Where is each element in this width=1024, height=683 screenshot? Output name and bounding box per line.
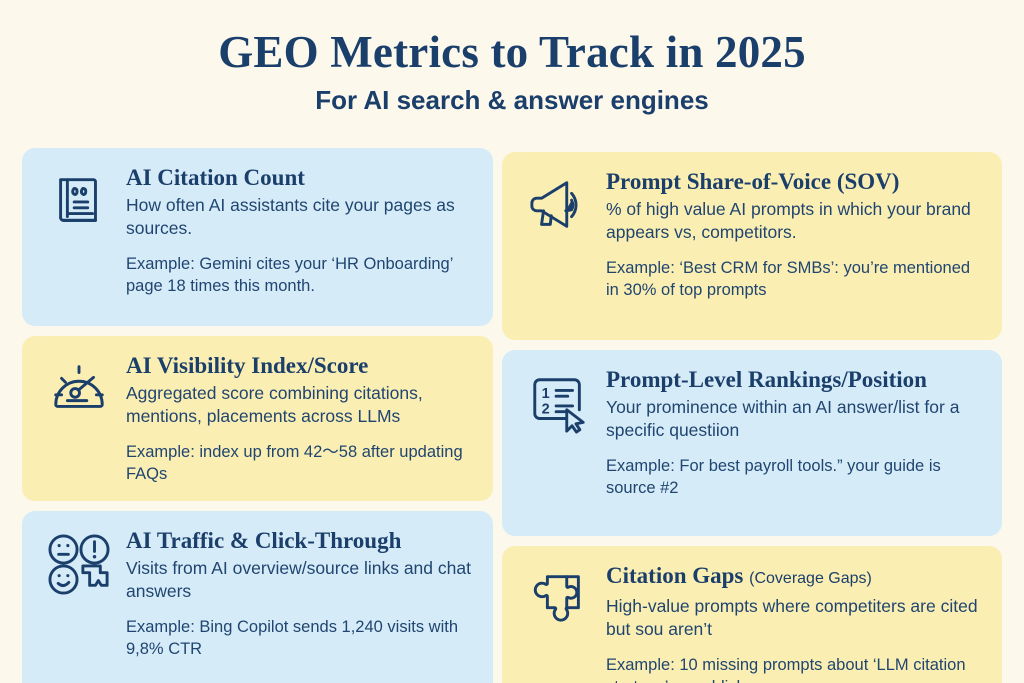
card-body: Prompt-Level Rankings/Position Your prom… [606,366,986,499]
card-description: % of high value AI prompts in which your… [606,198,986,244]
page-title: GEO Metrics to Track in 2025 [0,26,1024,78]
card-body: Citation Gaps (Coverage Gaps) High-value… [606,562,986,683]
card-title: AI Visibility Index/Score [126,352,477,379]
cards-grid: AI Citation Count How often AI assistant… [22,148,1002,683]
card-description: How often AI assistants cite your pages … [126,194,477,240]
svg-text:2: 2 [542,402,550,418]
numbered-list-cursor-icon: 1 2 [522,366,596,434]
card-ai-traffic-click-through[interactable]: AI Traffic & Click-Through Visits from A… [22,511,493,683]
card-title-main: Citation Gaps [606,563,743,588]
card-example: Example: For best payroll tools.” your g… [606,455,986,499]
faces-grid-icon [42,527,116,595]
card-body: AI Visibility Index/Score Aggregated sco… [126,352,477,485]
gauge-icon [42,352,116,420]
megaphone-icon [522,168,596,236]
card-title: AI Citation Count [126,164,477,191]
card-ai-citation-count[interactable]: AI Citation Count How often AI assistant… [22,148,493,326]
card-description: High-value prompts where competiters are… [606,595,986,641]
card-body: Prompt Share-of-Voice (SOV) % of high va… [606,168,986,301]
card-ai-visibility-index[interactable]: AI Visibility Index/Score Aggregated sco… [22,336,493,501]
header: GEO Metrics to Track in 2025 For AI sear… [0,0,1024,116]
infographic-page: GEO Metrics to Track in 2025 For AI sear… [0,0,1024,683]
card-title-note: (Coverage Gaps) [749,570,872,587]
card-example: Example: index up from 42～58 after updat… [126,441,477,485]
card-citation-gaps[interactable]: Citation Gaps (Coverage Gaps) High-value… [502,546,1002,683]
card-example: Example: Bing Copilot sends 1,240 visits… [126,616,477,660]
card-description: Visits from AI overview/source links and… [126,557,477,603]
card-body: AI Traffic & Click-Through Visits from A… [126,527,477,660]
card-title: Prompt Share-of-Voice (SOV) [606,168,986,195]
card-example: Example: 10 missing prompts about ‘LLM c… [606,654,986,683]
left-column: AI Citation Count How often AI assistant… [22,148,493,683]
card-title: Citation Gaps (Coverage Gaps) [606,562,986,592]
book-quote-icon [42,164,116,232]
card-description: Aggregated score combining citations, me… [126,382,477,428]
card-body: AI Citation Count How often AI assistant… [126,164,477,297]
puzzle-piece-icon [522,562,596,630]
svg-text:1: 1 [542,386,550,402]
card-title: AI Traffic & Click-Through [126,527,477,554]
card-prompt-share-of-voice[interactable]: Prompt Share-of-Voice (SOV) % of high va… [502,152,1002,340]
card-example: Example: ‘Best CRM for SMBs’: you’re men… [606,257,986,301]
card-description: Your prominence within an AI answer/list… [606,396,986,442]
card-example: Example: Gemini cites your ‘HR Onboardin… [126,253,477,297]
right-column: Prompt Share-of-Voice (SOV) % of high va… [502,148,1002,683]
card-prompt-level-rankings[interactable]: 1 2 Prompt-Level Rankings/Position Your … [502,350,1002,536]
card-title: Prompt-Level Rankings/Position [606,366,986,393]
page-subtitle: For AI search & answer engines [0,84,1024,116]
